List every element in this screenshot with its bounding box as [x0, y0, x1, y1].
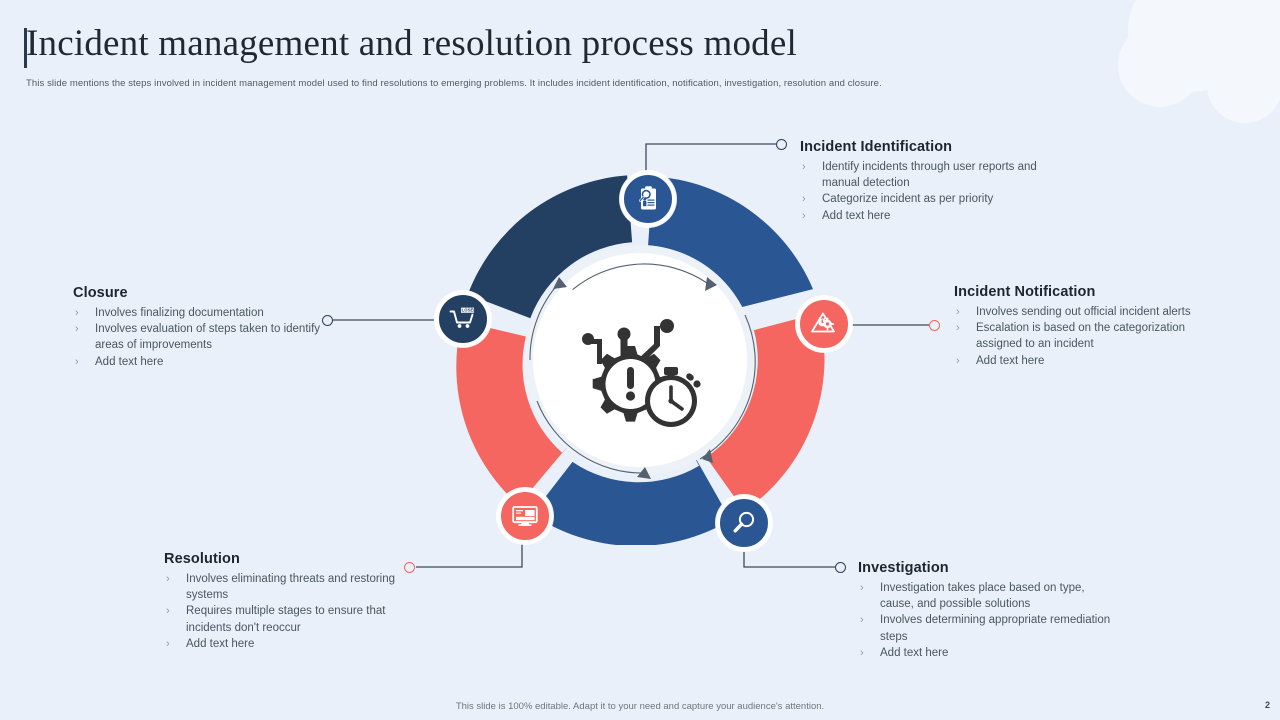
chevron-right-icon: › — [802, 191, 806, 207]
block-title-notification: Incident Notification — [954, 284, 1204, 300]
bullet-text: Involves sending out official incident a… — [976, 306, 1191, 318]
chevron-right-icon: › — [75, 354, 79, 370]
badge-resolution[interactable] — [497, 488, 553, 544]
list-item: ›Involves sending out official incident … — [954, 304, 1204, 320]
chevron-right-icon: › — [75, 305, 79, 321]
bullet-list-notification: ›Involves sending out official incident … — [954, 304, 1204, 369]
chevron-right-icon: › — [166, 603, 170, 619]
connector-endpoint-identification — [776, 139, 787, 150]
block-identification: Incident Identification ›Identify incide… — [800, 139, 1040, 224]
svg-text:CLOSED: CLOSED — [459, 308, 477, 313]
list-item: ›Involves evaluation of steps taken to i… — [73, 321, 323, 353]
bullet-text: Add text here — [822, 210, 890, 222]
chevron-right-icon: › — [956, 320, 960, 336]
list-item: ›Escalation is based on the categorizati… — [954, 320, 1204, 352]
bullet-text: Involves evaluation of steps taken to id… — [95, 323, 320, 351]
list-item: ›Add text here — [858, 645, 1118, 661]
bullet-text: Investigation takes place based on type,… — [880, 582, 1085, 610]
bullet-text: Add text here — [976, 355, 1044, 367]
chevron-right-icon: › — [860, 580, 864, 596]
connector-resolution — [408, 540, 528, 576]
chevron-right-icon: › — [860, 612, 864, 628]
alert-triangle-gear-icon — [810, 310, 838, 338]
block-resolution: Resolution ›Involves eliminating threats… — [164, 551, 404, 652]
page-subtitle: This slide mentions the steps involved i… — [26, 78, 882, 89]
block-title-resolution: Resolution — [164, 551, 404, 567]
gear-alert-stopwatch-icon — [568, 312, 713, 442]
block-notification: Incident Notification ›Involves sending … — [954, 284, 1204, 369]
badge-investigation[interactable] — [716, 495, 772, 551]
page-number: 2 — [1265, 700, 1270, 710]
bullet-text: Add text here — [186, 638, 254, 650]
clipboard-search-icon — [634, 185, 662, 213]
block-title-identification: Incident Identification — [800, 139, 1040, 155]
badge-notification[interactable] — [796, 296, 852, 352]
list-item: ›Requires multiple stages to ensure that… — [164, 603, 404, 635]
list-item: ›Involves eliminating threats and restor… — [164, 571, 404, 603]
connector-endpoint-closure — [322, 315, 333, 326]
shopping-cart-closed-icon: CLOSED — [448, 305, 478, 333]
list-item: ›Identify incidents through user reports… — [800, 159, 1040, 191]
bullet-text: Identify incidents through user reports … — [822, 161, 1037, 189]
bullet-text: Add text here — [95, 356, 163, 368]
bullet-list-identification: ›Identify incidents through user reports… — [800, 159, 1040, 224]
list-item: ›Add text here — [800, 208, 1040, 224]
connector-notification — [848, 318, 940, 332]
list-item: ›Add text here — [954, 353, 1204, 369]
slide-canvas: Incident management and resolution proce… — [0, 0, 1280, 720]
list-item: ›Categorize incident as per priority — [800, 191, 1040, 207]
bullet-list-resolution: ›Involves eliminating threats and restor… — [164, 571, 404, 652]
footer-note: This slide is 100% editable. Adapt it to… — [0, 701, 1280, 712]
list-item: ›Investigation takes place based on type… — [858, 580, 1118, 612]
magnifier-icon — [730, 509, 758, 537]
chevron-right-icon: › — [860, 645, 864, 661]
bullet-text: Involves determining appropriate remedia… — [880, 614, 1110, 642]
chevron-right-icon: › — [166, 571, 170, 587]
page-title: Incident management and resolution proce… — [26, 22, 797, 65]
block-investigation: Investigation ›Investigation takes place… — [858, 560, 1118, 661]
bullet-text: Categorize incident as per priority — [822, 193, 993, 205]
decorative-cloud-shape — [1040, 0, 1280, 130]
chevron-right-icon: › — [956, 304, 960, 320]
bullet-text: Involves finalizing documentation — [95, 307, 264, 319]
desktop-monitor-icon — [511, 502, 539, 530]
chevron-right-icon: › — [802, 208, 806, 224]
chevron-right-icon: › — [75, 321, 79, 337]
badge-closure[interactable]: CLOSED — [435, 291, 491, 347]
list-item: ›Add text here — [164, 636, 404, 652]
block-closure: Closure ›Involves finalizing documentati… — [73, 285, 323, 370]
bullet-list-investigation: ›Investigation takes place based on type… — [858, 580, 1118, 661]
chevron-right-icon: › — [802, 159, 806, 175]
connector-investigation — [738, 544, 846, 580]
bullet-list-closure: ›Involves finalizing documentation ›Invo… — [73, 305, 323, 370]
bullet-text: Add text here — [880, 647, 948, 659]
chevron-right-icon: › — [956, 353, 960, 369]
connector-endpoint-investigation — [835, 562, 846, 573]
block-title-closure: Closure — [73, 285, 323, 301]
connector-endpoint-notification — [929, 320, 940, 331]
connector-endpoint-resolution — [404, 562, 415, 573]
block-title-investigation: Investigation — [858, 560, 1118, 576]
list-item: ›Involves determining appropriate remedi… — [858, 612, 1118, 644]
list-item: ›Add text here — [73, 354, 323, 370]
list-item: ›Involves finalizing documentation — [73, 305, 323, 321]
chevron-right-icon: › — [166, 636, 170, 652]
connector-closure — [328, 313, 438, 327]
bullet-text: Requires multiple stages to ensure that … — [186, 605, 385, 633]
bullet-text: Escalation is based on the categorizatio… — [976, 322, 1185, 350]
bullet-text: Involves eliminating threats and restori… — [186, 573, 395, 601]
badge-identification[interactable] — [620, 171, 676, 227]
